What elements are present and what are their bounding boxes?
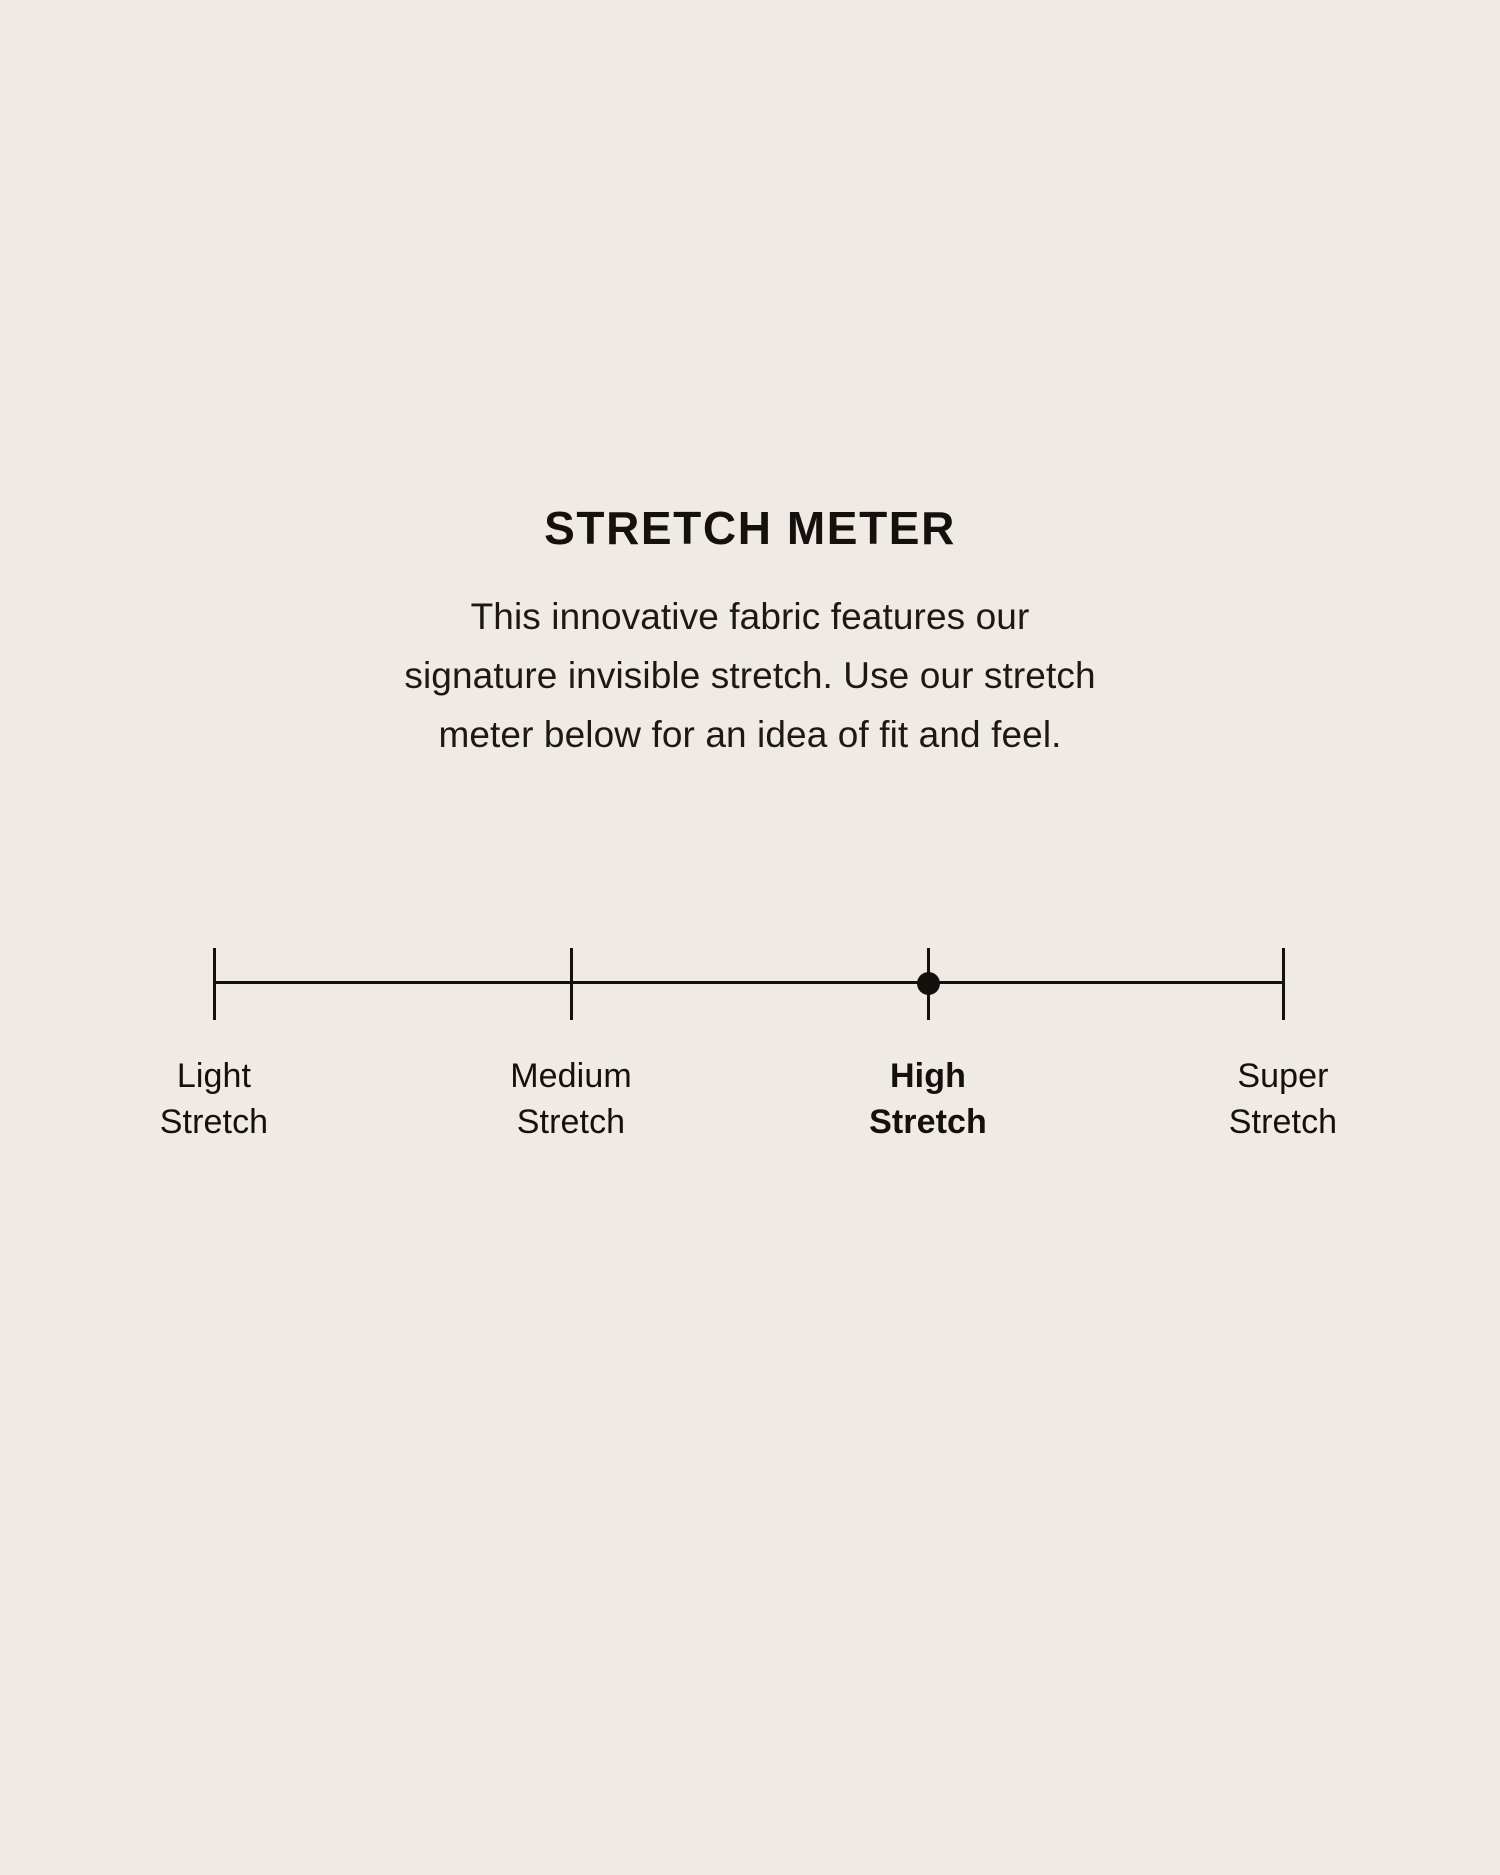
meter-label-line-1: High [778,1053,1078,1099]
description-line-2: signature invisible stretch. Use our str… [0,646,1500,705]
heading-block: STRETCH METER This innovative fabric fea… [0,505,1500,764]
stretch-meter-panel: STRETCH METER This innovative fabric fea… [0,0,1500,1875]
meter-tick-0[interactable] [213,948,216,1020]
meter-label-line-2: Stretch [778,1099,1078,1145]
page-title: STRETCH METER [0,505,1500,551]
meter-label-line-1: Light [64,1053,364,1099]
meter-label-line-2: Stretch [1133,1099,1433,1145]
meter-label-line-2: Stretch [64,1099,364,1145]
meter-marker-dot[interactable] [917,972,940,995]
meter-label-0[interactable]: LightStretch [64,1053,364,1145]
meter-label-group: LightStretchMediumStretchHighStretchSupe… [0,1053,1500,1163]
panel-description: This innovative fabric features our sign… [0,551,1500,764]
meter-label-1[interactable]: MediumStretch [421,1053,721,1145]
description-line-3: meter below for an idea of fit and feel. [0,705,1500,764]
meter-tick-3[interactable] [1282,948,1285,1020]
meter-label-line-2: Stretch [421,1099,721,1145]
meter-tick-1[interactable] [570,948,573,1020]
meter-axis-line [214,981,1283,984]
meter-label-3[interactable]: SuperStretch [1133,1053,1433,1145]
stretch-meter-scale[interactable] [214,948,1283,1020]
meter-label-line-1: Super [1133,1053,1433,1099]
meter-label-line-1: Medium [421,1053,721,1099]
description-line-1: This innovative fabric features our [0,587,1500,646]
meter-label-2[interactable]: HighStretch [778,1053,1078,1145]
